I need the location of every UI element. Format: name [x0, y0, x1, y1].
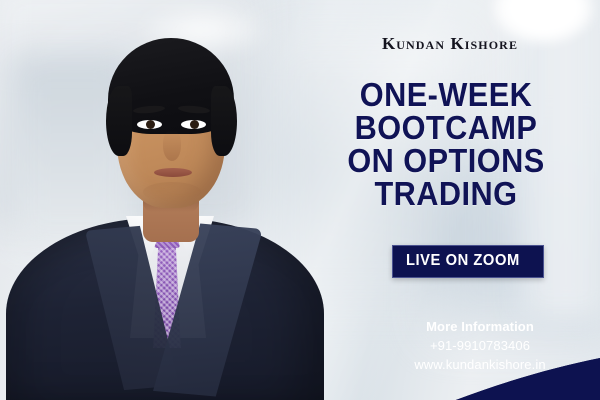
hair-side-left — [106, 86, 132, 156]
chin-shadow — [143, 182, 201, 202]
pupil-left — [146, 120, 155, 129]
headline-line-4: Trading — [303, 177, 589, 210]
contact-phone[interactable]: +91-9910783406 — [360, 336, 600, 355]
contact-heading: More Information — [360, 318, 600, 336]
pupil-right — [190, 120, 199, 129]
headline-line-1: One-Week — [303, 78, 589, 111]
contact-block: More Information +91-9910783406 www.kund… — [360, 318, 600, 374]
promo-poster: Kundan Kishore One-Week Bootcamp On Opti… — [0, 0, 600, 400]
headline-line-3: On Options — [303, 144, 589, 177]
mouth — [154, 168, 192, 177]
live-on-zoom-badge[interactable]: Live on Zoom — [392, 245, 544, 278]
nose — [163, 131, 181, 161]
contact-website[interactable]: www.kundankishore.in — [360, 355, 600, 374]
headline-line-2: Bootcamp — [303, 111, 589, 144]
brand-name: Kundan Kishore — [300, 34, 600, 54]
hair-side-right — [211, 86, 237, 156]
live-on-zoom-badge-label: Live on Zoom — [406, 252, 520, 270]
page-title: One-Week Bootcamp On Options Trading — [303, 78, 589, 210]
